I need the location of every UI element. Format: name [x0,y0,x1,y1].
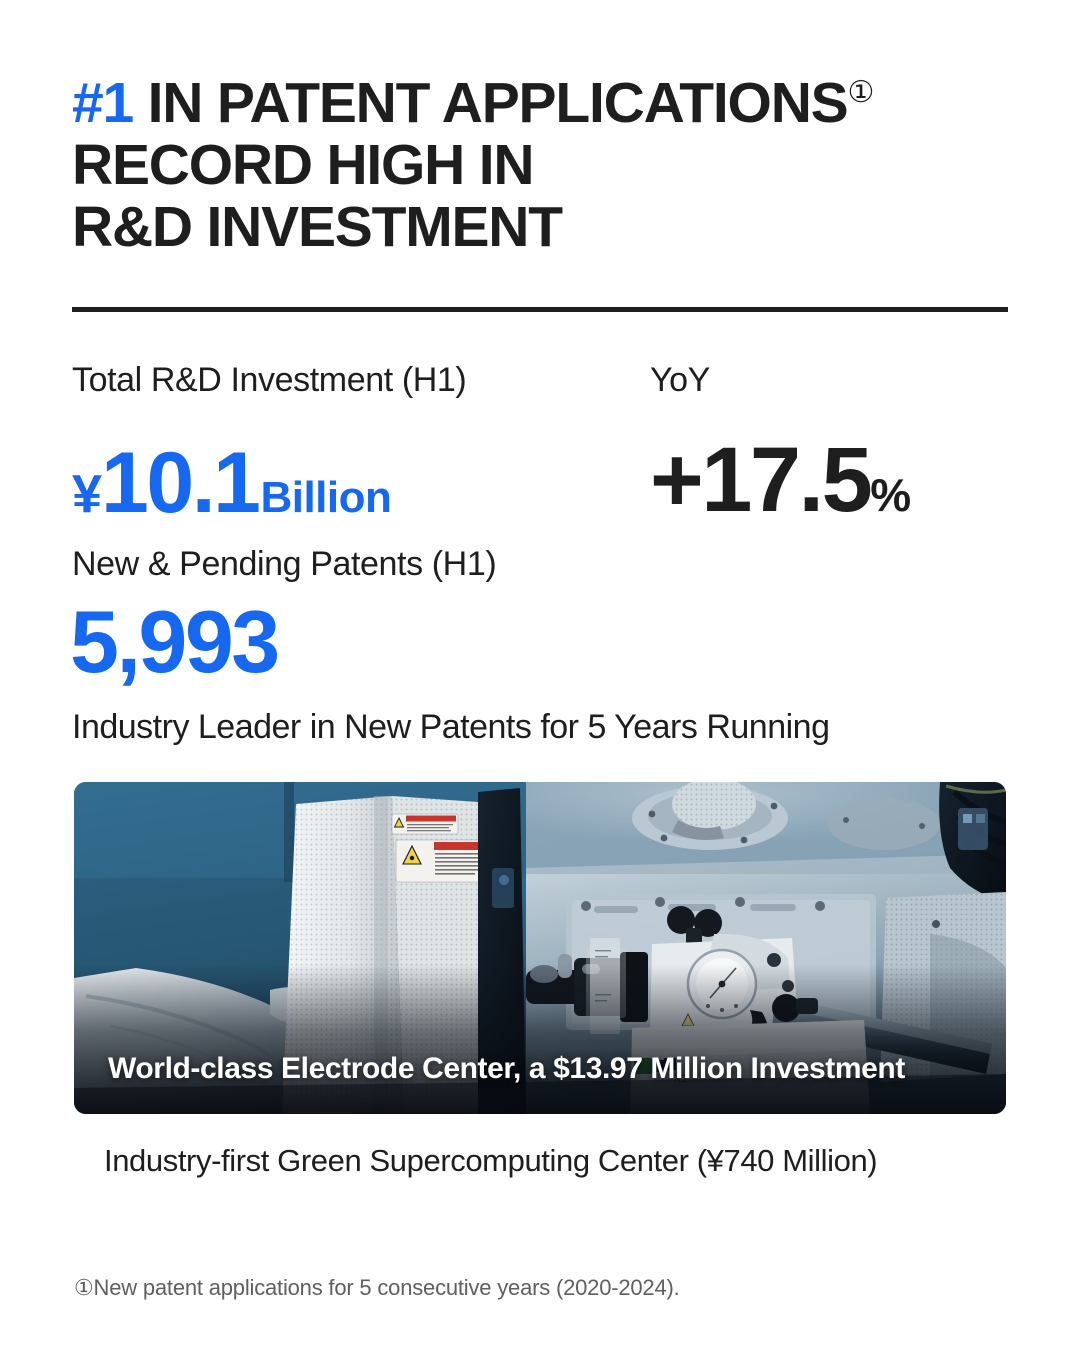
rd-investment-unit: Billion [260,473,391,522]
patents-tagline: Industry Leader in New Patents for 5 Yea… [72,708,829,747]
patents-value: 5,993 [70,598,278,686]
footnote-text: ①New patent applications for 5 consecuti… [74,1275,680,1301]
rd-investment-value: ¥10.1Billion [72,440,391,526]
headline-line2: RECORD HIGH IN [72,133,533,197]
yoy-value: +17.5% [650,434,911,526]
yoy-label: YoY [650,361,710,400]
infographic-page: #1 IN PATENT APPLICATIONS① RECORD HIGH I… [0,0,1080,1350]
electrode-center-photo: X2 X1 World-class Electrode Center, a $1… [74,782,1006,1114]
currency-symbol: ¥ [72,464,101,524]
footnote-marker-superscript: ① [847,76,874,109]
rd-investment-label: Total R&D Investment (H1) [72,361,466,400]
yoy-number: +17.5 [650,429,870,531]
patents-label: New & Pending Patents (H1) [72,545,496,584]
page-title: #1 IN PATENT APPLICATIONS① RECORD HIGH I… [72,72,1012,258]
rd-investment-number: 10.1 [101,435,258,531]
supercomputing-center-caption: Industry-first Green Supercomputing Cent… [104,1143,877,1179]
headline-rank: #1 [72,71,133,135]
photo-caption: World-class Electrode Center, a $13.97 M… [108,1052,905,1086]
headline-line3: R&D INVESTMENT [72,195,562,259]
headline-line1-rest: IN PATENT APPLICATIONS [133,71,847,135]
yoy-unit: % [870,469,910,521]
header-divider [72,307,1008,312]
